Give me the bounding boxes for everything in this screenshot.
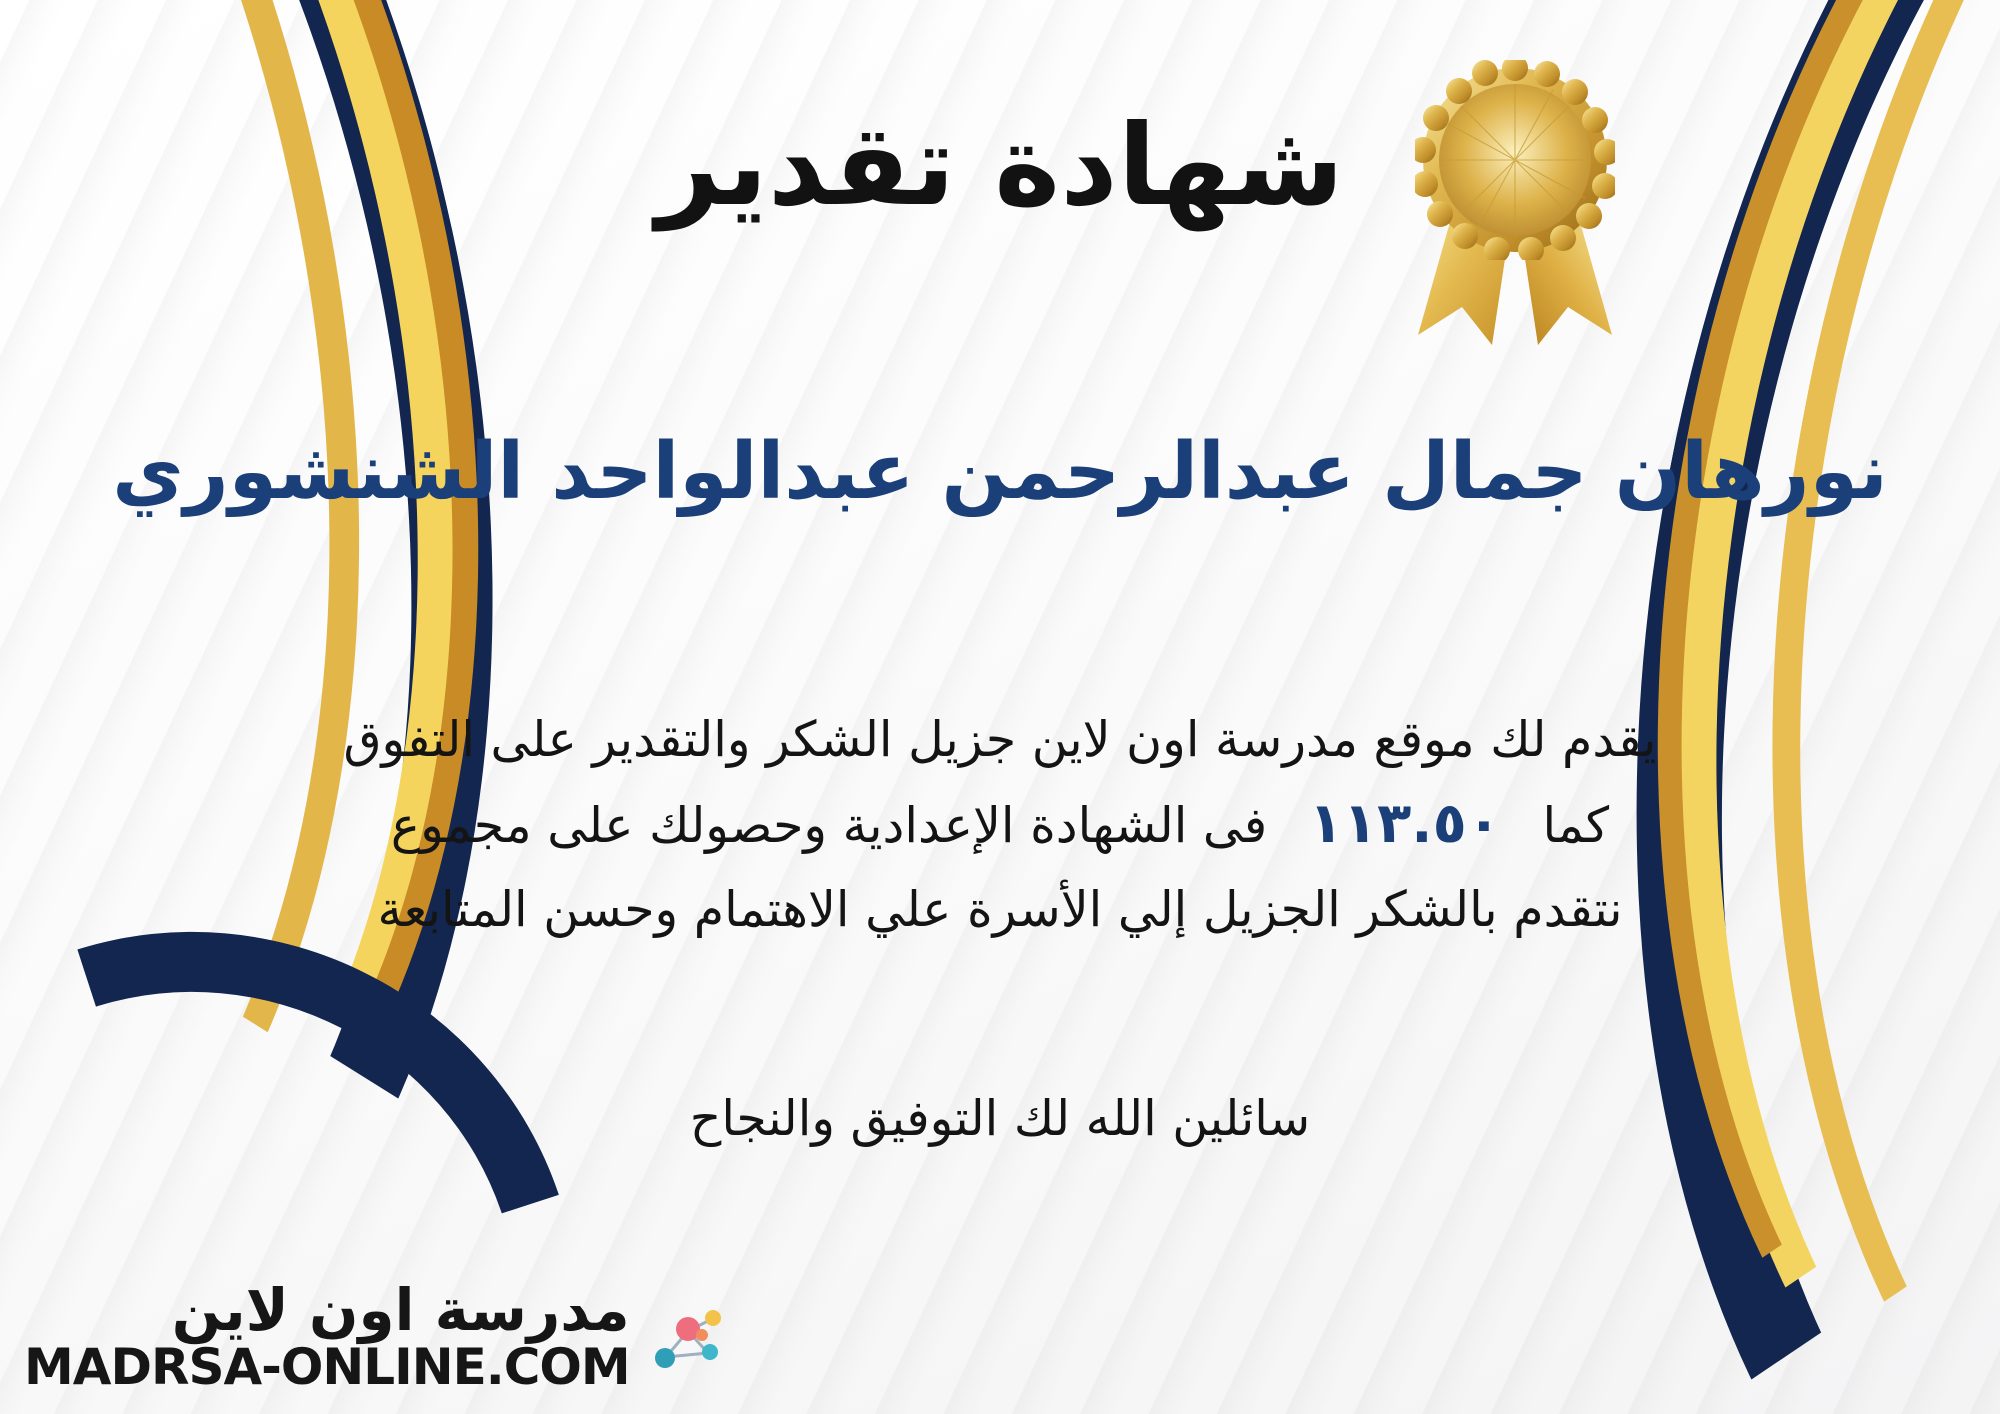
certificate-canvas: شهادة تقدير نورهان جمال عبدالرحمن عبدالو… (0, 0, 2000, 1414)
body-line-2-before: فى الشهادة الإعدادية وحصولك على مجموع (391, 797, 1267, 854)
body-line-2-after: كما (1543, 797, 1610, 854)
brand-logo[interactable]: مدرسة اون لاين MADRSA-ONLINE.COM (24, 1281, 730, 1397)
body-line-2: كما ١١٣.٥٠ فى الشهادة الإعدادية وحصولك ع… (150, 779, 1850, 870)
certificate-body: يقدم لك موقع مدرسة اون لاين جزيل الشكر و… (150, 700, 1850, 949)
certificate-title: شهادة تقدير (0, 105, 2000, 228)
brand-name-arabic: مدرسة اون لاين (172, 1281, 630, 1339)
closing-line: سائلين الله لك التوفيق والنجاح (0, 1090, 2000, 1147)
recipient-name: نورهان جمال عبدالرحمن عبدالواحد الشنشوري (0, 428, 2000, 518)
brand-url: MADRSA-ONLINE.COM (24, 1339, 630, 1397)
brand-text: مدرسة اون لاين MADRSA-ONLINE.COM (24, 1281, 630, 1397)
grade-value: ١١٣.٥٠ (1283, 791, 1527, 856)
body-line-1: يقدم لك موقع مدرسة اون لاين جزيل الشكر و… (150, 700, 1850, 779)
body-line-3: نتقدم بالشكر الجزيل إلي الأسرة علي الاهت… (150, 870, 1850, 949)
network-nodes-logo-icon (644, 1295, 730, 1381)
